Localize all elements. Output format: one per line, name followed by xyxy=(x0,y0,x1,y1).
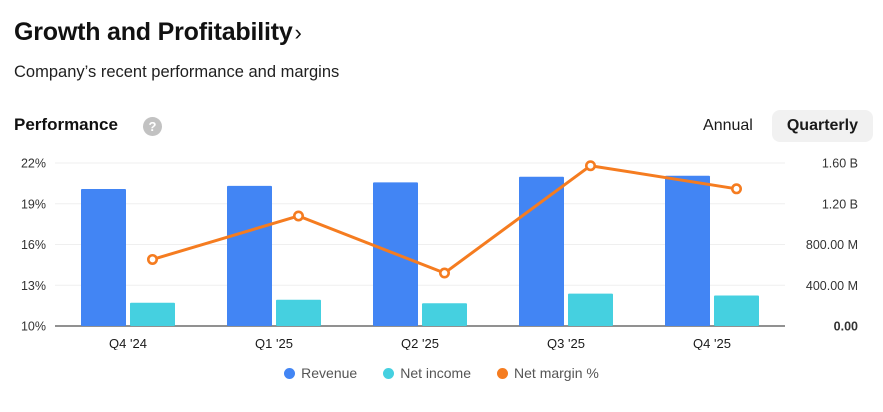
x-axis-tick: Q1 '25 xyxy=(255,336,293,350)
right-axis-tick: 1.20 B xyxy=(822,197,858,211)
left-axis-tick: 16% xyxy=(21,238,46,252)
page-title[interactable]: Growth and Profitability› xyxy=(14,18,302,47)
legend-label: Net income xyxy=(400,365,471,381)
chart-bar[interactable] xyxy=(568,294,613,326)
right-axis-tick: 1.60 B xyxy=(822,157,858,171)
chart-bar[interactable] xyxy=(665,176,710,326)
legend-color-dot xyxy=(284,368,295,379)
right-axis-tick: 800.00 M xyxy=(806,238,858,252)
left-axis-tick: 22% xyxy=(21,157,46,171)
performance-chart[interactable]: 10%0.0013%400.00 M16%800.00 M19%1.20 B22… xyxy=(0,150,883,350)
left-axis-tick: 10% xyxy=(21,320,46,334)
legend-item-net-margin[interactable]: Net margin % xyxy=(497,365,599,381)
chart-bar[interactable] xyxy=(227,186,272,326)
chart-line-marker[interactable] xyxy=(586,162,594,170)
left-axis-tick: 13% xyxy=(21,279,46,293)
right-axis-tick: 0.00 xyxy=(834,320,858,334)
x-axis-tick: Q4 '24 xyxy=(109,336,147,350)
x-axis-tick: Q3 '25 xyxy=(547,336,585,350)
tab-quarterly[interactable]: Quarterly xyxy=(772,110,873,142)
chart-line-marker[interactable] xyxy=(440,269,448,277)
chart-canvas: 10%0.0013%400.00 M16%800.00 M19%1.20 B22… xyxy=(0,150,883,350)
chart-line-marker[interactable] xyxy=(148,255,156,263)
tab-annual[interactable]: Annual xyxy=(688,110,768,142)
chart-line-marker[interactable] xyxy=(732,185,740,193)
chart-bar[interactable] xyxy=(81,189,126,326)
chart-bar[interactable] xyxy=(130,303,175,326)
x-axis-tick: Q2 '25 xyxy=(401,336,439,350)
left-axis-tick: 19% xyxy=(21,197,46,211)
chart-line-marker[interactable] xyxy=(294,212,302,220)
x-axis-tick: Q4 '25 xyxy=(693,336,731,350)
legend-color-dot xyxy=(497,368,508,379)
legend-item-revenue[interactable]: Revenue xyxy=(284,365,357,381)
legend-item-net-income[interactable]: Net income xyxy=(383,365,471,381)
chart-bar[interactable] xyxy=(714,295,759,326)
period-toggle-group: Annual Quarterly xyxy=(688,110,873,142)
legend-label: Net margin % xyxy=(514,365,599,381)
help-icon[interactable]: ? xyxy=(143,117,162,136)
right-axis-tick: 400.00 M xyxy=(806,279,858,293)
chart-bar[interactable] xyxy=(422,303,467,326)
section-title: Performance xyxy=(14,115,118,135)
legend-label: Revenue xyxy=(301,365,357,381)
chart-bar[interactable] xyxy=(519,177,564,326)
chart-bar[interactable] xyxy=(276,300,321,326)
chart-legend: Revenue Net income Net margin % xyxy=(0,365,883,381)
chevron-right-icon: › xyxy=(295,20,302,45)
page-subtitle: Company’s recent performance and margins xyxy=(14,63,339,82)
legend-color-dot xyxy=(383,368,394,379)
page-title-text: Growth and Profitability xyxy=(14,18,293,46)
